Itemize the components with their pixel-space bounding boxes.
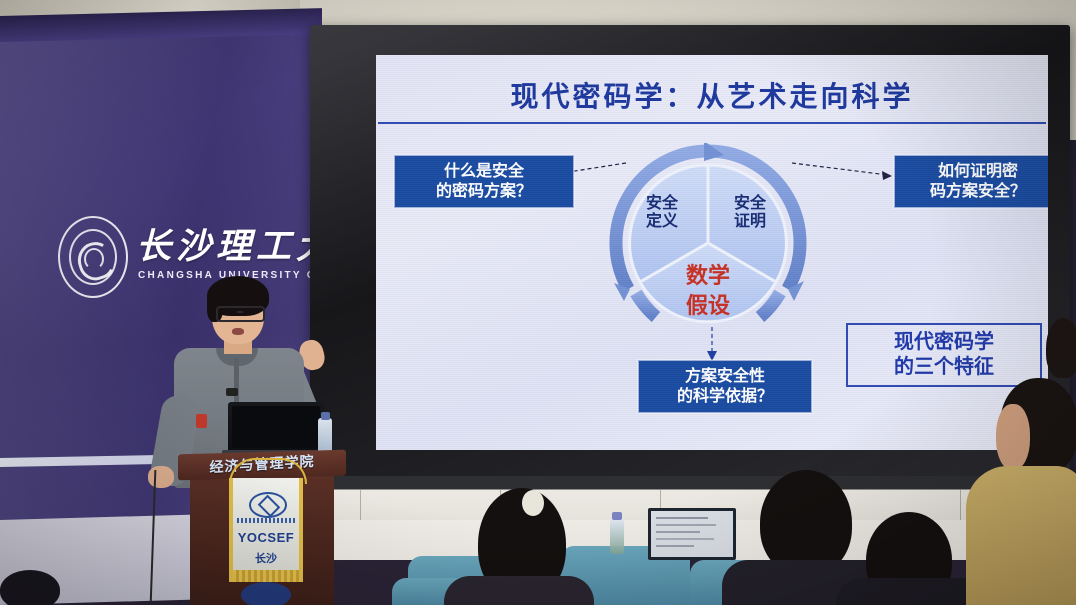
pennant-cloth: YOCSEF 长沙 <box>233 478 299 570</box>
glasses-icon <box>216 306 265 322</box>
cycle-diagram: 安全 定义 安全 证明 数学 假设 <box>608 143 808 343</box>
audience-laptop <box>648 508 736 560</box>
segment-math-assumption: 数学 假设 <box>642 261 774 320</box>
foreground-audience-face <box>996 404 1030 470</box>
callout-how-to-prove-security: 如何证明密 码方案安全？ <box>894 155 1048 208</box>
audience-shoulders <box>444 576 594 605</box>
foreground-audience-head-2 <box>1046 318 1076 378</box>
projection-display: 现代密码学：从艺术走向科学 <box>310 25 1070 480</box>
segment-security-proof: 安全 证明 <box>716 195 784 231</box>
speaker-left-hand <box>148 466 174 488</box>
pennant-city-label: 长沙 <box>233 550 299 566</box>
pennant-org-label: YOCSEF <box>233 530 299 545</box>
pennant-bottom-emblem <box>241 582 291 605</box>
callout-three-features: 现代密码学 的三个特征 <box>846 323 1042 387</box>
foreground-audience-shirt <box>966 466 1076 605</box>
audience-shoulders <box>836 578 986 605</box>
laptop-on-podium <box>228 402 324 454</box>
bottle-cap <box>321 412 330 420</box>
yocsef-pennant: YOCSEF 长沙 <box>233 470 299 590</box>
slide-title: 现代密码学：从艺术走向科学 <box>376 75 1048 115</box>
pennant-fringe <box>233 570 299 582</box>
speaker-mouth <box>232 328 244 335</box>
audience-head <box>0 570 60 605</box>
lecture-hall-photo: 长沙理工大学 CHANGSHA UNIVERSITY OF SCIENCE & … <box>0 0 1076 605</box>
audience-bottle-cap <box>612 512 622 520</box>
speaker-lapel-mic <box>226 388 238 396</box>
water-bottle <box>318 418 332 454</box>
audience-water-bottle <box>610 518 624 554</box>
callout-what-is-secure-scheme: 什么是安全 的密码方案？ <box>394 155 574 208</box>
callout-scientific-basis: 方案安全性 的科学依据？ <box>638 360 812 413</box>
segment-security-definition: 安全 定义 <box>628 195 696 231</box>
title-divider <box>378 122 1046 124</box>
speaker-badge <box>196 414 207 428</box>
laptop-screen <box>232 406 320 448</box>
ccf-diamond-logo <box>249 492 287 518</box>
university-seal-logo <box>58 216 128 298</box>
audience-hair-clip <box>522 490 544 516</box>
ccf-subtitle-line <box>237 518 295 523</box>
presentation-slide: 现代密码学：从艺术走向科学 <box>376 55 1048 450</box>
